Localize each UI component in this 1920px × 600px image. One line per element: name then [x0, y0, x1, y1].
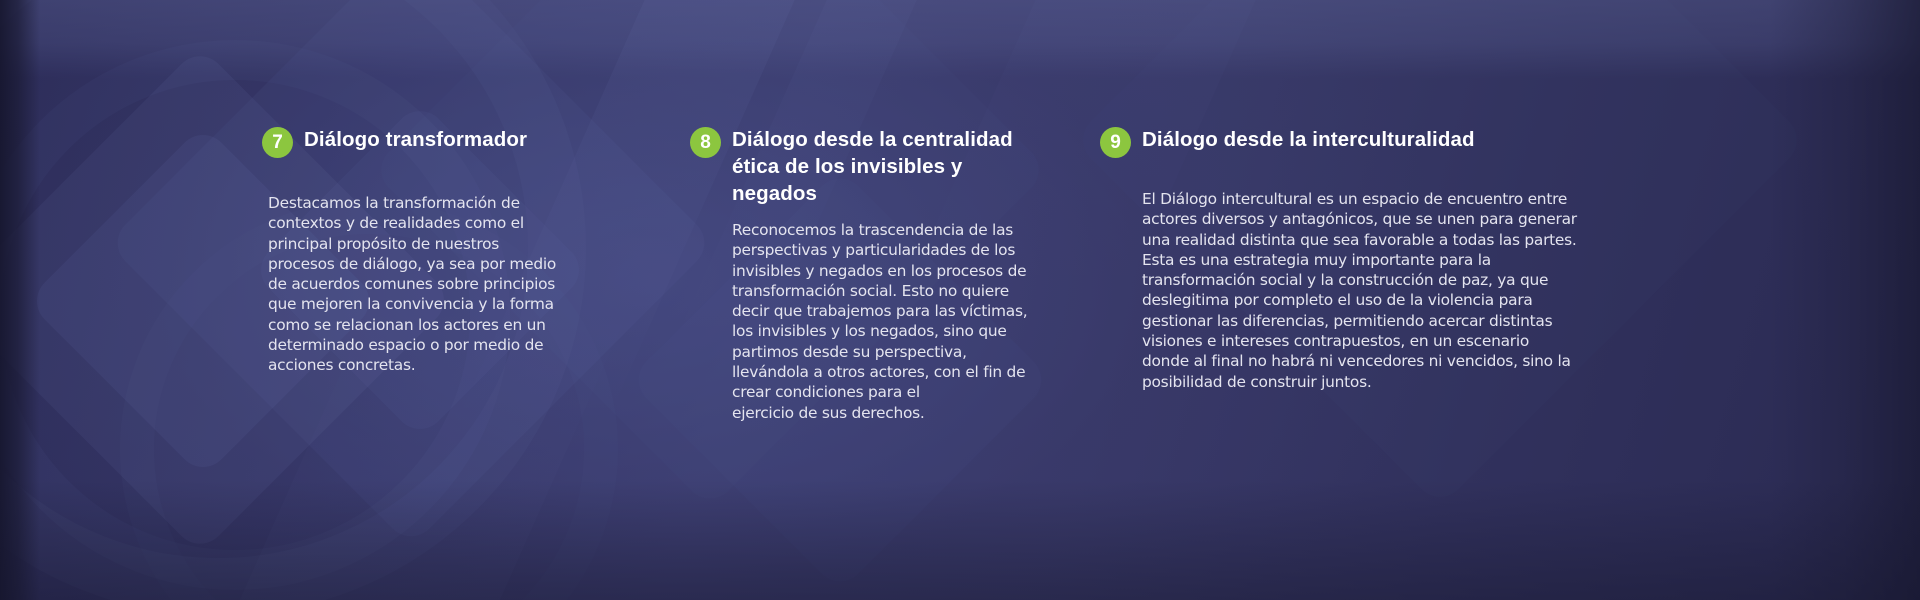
dialogue-item-8: 8 Diálogo desde la centralidad ética de …	[690, 126, 1050, 423]
slide-canvas: 7 Diálogo transformador Destacamos la tr…	[0, 0, 1920, 600]
content-columns: 7 Diálogo transformador Destacamos la tr…	[0, 0, 1920, 600]
dialogue-item-7-header: 7 Diálogo transformador	[262, 126, 628, 158]
dialogue-item-9-body: El Diálogo intercultural es un espacio d…	[1142, 189, 1642, 392]
dialogue-item-7-body: Destacamos la transformación de contexto…	[268, 193, 628, 376]
number-badge-9: 9	[1100, 127, 1131, 158]
dialogue-item-8-title: Diálogo desde la centralidad ética de lo…	[732, 126, 1050, 207]
number-badge-7: 7	[262, 127, 293, 158]
number-badge-8: 8	[690, 127, 721, 158]
dialogue-item-9: 9 Diálogo desde la interculturalidad El …	[1100, 126, 1630, 392]
dialogue-item-8-header: 8 Diálogo desde la centralidad ética de …	[690, 126, 1050, 207]
dialogue-item-7-title: Diálogo transformador	[304, 126, 604, 153]
dialogue-item-9-header: 9 Diálogo desde la interculturalidad	[1100, 126, 1630, 158]
dialogue-item-8-body: Reconocemos la trascendencia de las pers…	[732, 220, 1052, 423]
dialogue-item-7: 7 Diálogo transformador Destacamos la tr…	[262, 126, 628, 376]
dialogue-item-9-title: Diálogo desde la interculturalidad	[1142, 126, 1612, 153]
